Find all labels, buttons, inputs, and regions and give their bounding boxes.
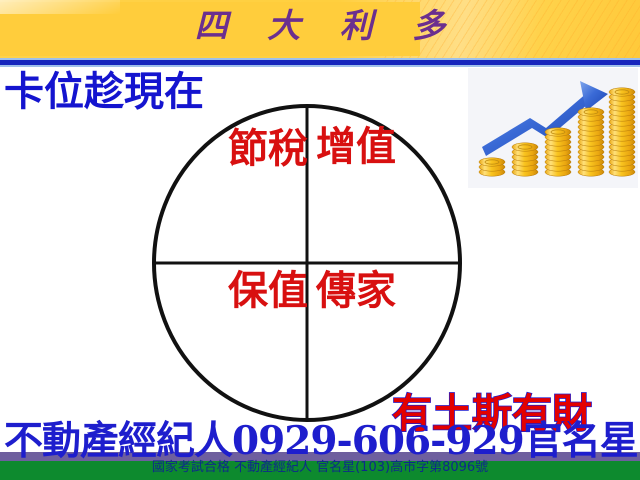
coin-stack-4 — [578, 108, 604, 176]
coin-stack-3 — [545, 128, 571, 176]
quadrant-label-bottom-left: 保值 — [228, 267, 306, 315]
contact-line: 不動產經紀人0929-606-929官名星 — [4, 418, 640, 464]
coin-stack-1 — [479, 158, 505, 176]
license-fine-print: 國家考試合格 不動產經紀人 官名星(103)高市字第8096號 — [0, 459, 640, 477]
coin-stacks-growth-chart-image — [468, 68, 638, 188]
slide-canvas: 四 大 利 多 卡位趁現在 — [0, 0, 640, 480]
quadrant-label-top-left: 節稅 — [228, 125, 306, 173]
coin-stack-5 — [609, 88, 635, 176]
four-quadrant-circle: 節稅 增值 保值 傳家 — [150, 103, 464, 423]
quadrant-label-top-right: 增值 — [316, 123, 394, 171]
page-title: 四 大 利 多 — [0, 4, 640, 48]
coin-stack-2 — [512, 143, 538, 176]
quadrant-label-bottom-right: 傳家 — [316, 267, 394, 315]
banner-rule-inner — [0, 60, 640, 65]
